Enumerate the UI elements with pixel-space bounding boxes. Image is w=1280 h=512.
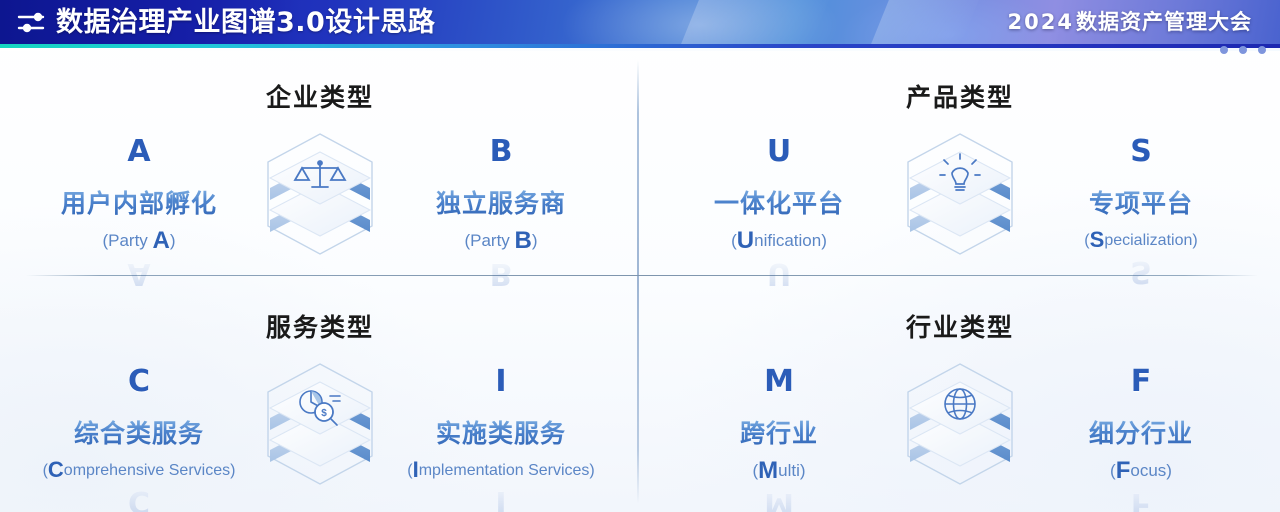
cell-letter: B <box>366 136 636 168</box>
en-suffix: ) <box>170 231 176 250</box>
cell-M: M 跨行业 (Multi) M 跨行业 (Multi) <box>644 366 914 485</box>
cell-letter: A <box>4 136 274 168</box>
cell-label-cn: 专项平台 <box>1006 184 1276 220</box>
cell-label-cn: 实施类服务 <box>366 414 636 450</box>
cell-label-cn: 一体化平台 <box>644 184 914 220</box>
reflection-text: M <box>644 487 914 512</box>
cell-label-cn: 用户内部孵化 <box>4 184 274 220</box>
cell-letter: I <box>366 366 636 398</box>
quadrant-service-type: 服务类型 <box>0 282 640 512</box>
quadrant-industry-type: 行业类型 <box>640 282 1280 512</box>
en-capital: A <box>153 227 170 254</box>
reflection-text: F <box>1006 487 1276 512</box>
text-reflection: C 综合类服务 (Comprehensive Services) <box>4 483 274 512</box>
en-suffix: mplementation Services) <box>419 462 595 479</box>
cell-label-en: (Focus) <box>1006 457 1276 485</box>
sliders-settings-icon <box>17 10 47 35</box>
cell-letter: U <box>644 136 914 168</box>
cell-letter: C <box>4 366 274 398</box>
quadrant-enterprise-type: 企业类型 <box>0 52 640 282</box>
cell-label-en: (Unification) <box>644 227 914 255</box>
quadrant-product-type: 产品类型 <box>640 52 1280 282</box>
en-suffix: nification) <box>754 231 827 250</box>
cell-label-cn: 细分行业 <box>1006 414 1276 450</box>
quadrant-title: 行业类型 <box>640 308 1280 344</box>
quadrant-title: 企业类型 <box>0 78 640 114</box>
cell-label-cn: 跨行业 <box>644 414 914 450</box>
svg-text:$: $ <box>321 408 327 419</box>
en-suffix: omprehensive Services) <box>64 462 236 479</box>
en-capital: S <box>1090 227 1105 252</box>
cell-label-en: (Party B) <box>366 227 636 255</box>
text-reflection: M 跨行业 (Multi) <box>644 485 914 512</box>
brand-year: 2024 <box>1008 10 1074 34</box>
cell-label-en: (Specialization) <box>1006 227 1276 253</box>
cell-S: S 专项平台 (Specialization) S 专项平台 (Speciali… <box>1006 136 1276 253</box>
en-capital: C <box>48 457 64 482</box>
slide-header: 数据治理产业图谱3.0设计思路 2024数据资产管理大会 <box>0 0 1280 44</box>
cell-I: I 实施类服务 (Implementation Services) I 实施类服… <box>366 366 636 483</box>
en-prefix: (Party <box>102 231 152 250</box>
en-suffix: ) <box>532 231 538 250</box>
en-suffix: ulti) <box>778 461 805 480</box>
reflection-text: I <box>366 485 636 512</box>
cell-B: B 独立服务商 (Party B) B 独立服务商 (Party B) <box>366 136 636 255</box>
quadrant-title: 产品类型 <box>640 78 1280 114</box>
cell-label-en: (Implementation Services) <box>366 457 636 483</box>
en-capital: U <box>737 227 754 254</box>
header-accent-underlay <box>0 48 1280 51</box>
cell-label-en: (Party A) <box>4 227 274 255</box>
cell-label-en: (Comprehensive Services) <box>4 457 274 483</box>
cell-letter: S <box>1006 136 1276 168</box>
cell-letter: M <box>644 366 914 398</box>
en-capital: M <box>758 457 778 484</box>
cell-label-cn: 综合类服务 <box>4 414 274 450</box>
en-capital: F <box>1116 457 1131 484</box>
cell-A: A 用户内部孵化 (Party A) A 用户内部孵化 (Party A) <box>4 136 274 255</box>
header-streak-2 <box>871 0 979 44</box>
brand-name: 数据资产管理大会 <box>1076 10 1252 34</box>
text-reflection: F 细分行业 (Focus) <box>1006 485 1276 512</box>
en-capital: B <box>515 227 532 254</box>
en-suffix: ocus) <box>1130 461 1172 480</box>
en-prefix: (Party <box>464 231 514 250</box>
en-suffix: pecialization) <box>1104 232 1197 249</box>
cell-C: C 综合类服务 (Comprehensive Services) C 综合类服务… <box>4 366 274 483</box>
cell-F: F 细分行业 (Focus) F 细分行业 (Focus) <box>1006 366 1276 485</box>
cell-U: U 一体化平台 (Unification) U 一体化平台 (Unificati… <box>644 136 914 255</box>
cell-label-cn: 独立服务商 <box>366 184 636 220</box>
page-title: 数据治理产业图谱3.0设计思路 <box>56 5 435 41</box>
quadrant-title: 服务类型 <box>0 308 640 344</box>
cell-label-en: (Multi) <box>644 457 914 485</box>
text-reflection: I 实施类服务 (Implementation Services) <box>366 483 636 512</box>
quadrant-grid: 企业类型 <box>0 52 1280 512</box>
header-streak-1 <box>681 0 829 44</box>
cell-letter: F <box>1006 366 1276 398</box>
reflection-text: C <box>4 485 274 512</box>
slide-canvas: 数据治理产业图谱3.0设计思路 2024数据资产管理大会 企业类型 <box>0 0 1280 512</box>
conference-brand: 2024数据资产管理大会 <box>1008 8 1252 36</box>
